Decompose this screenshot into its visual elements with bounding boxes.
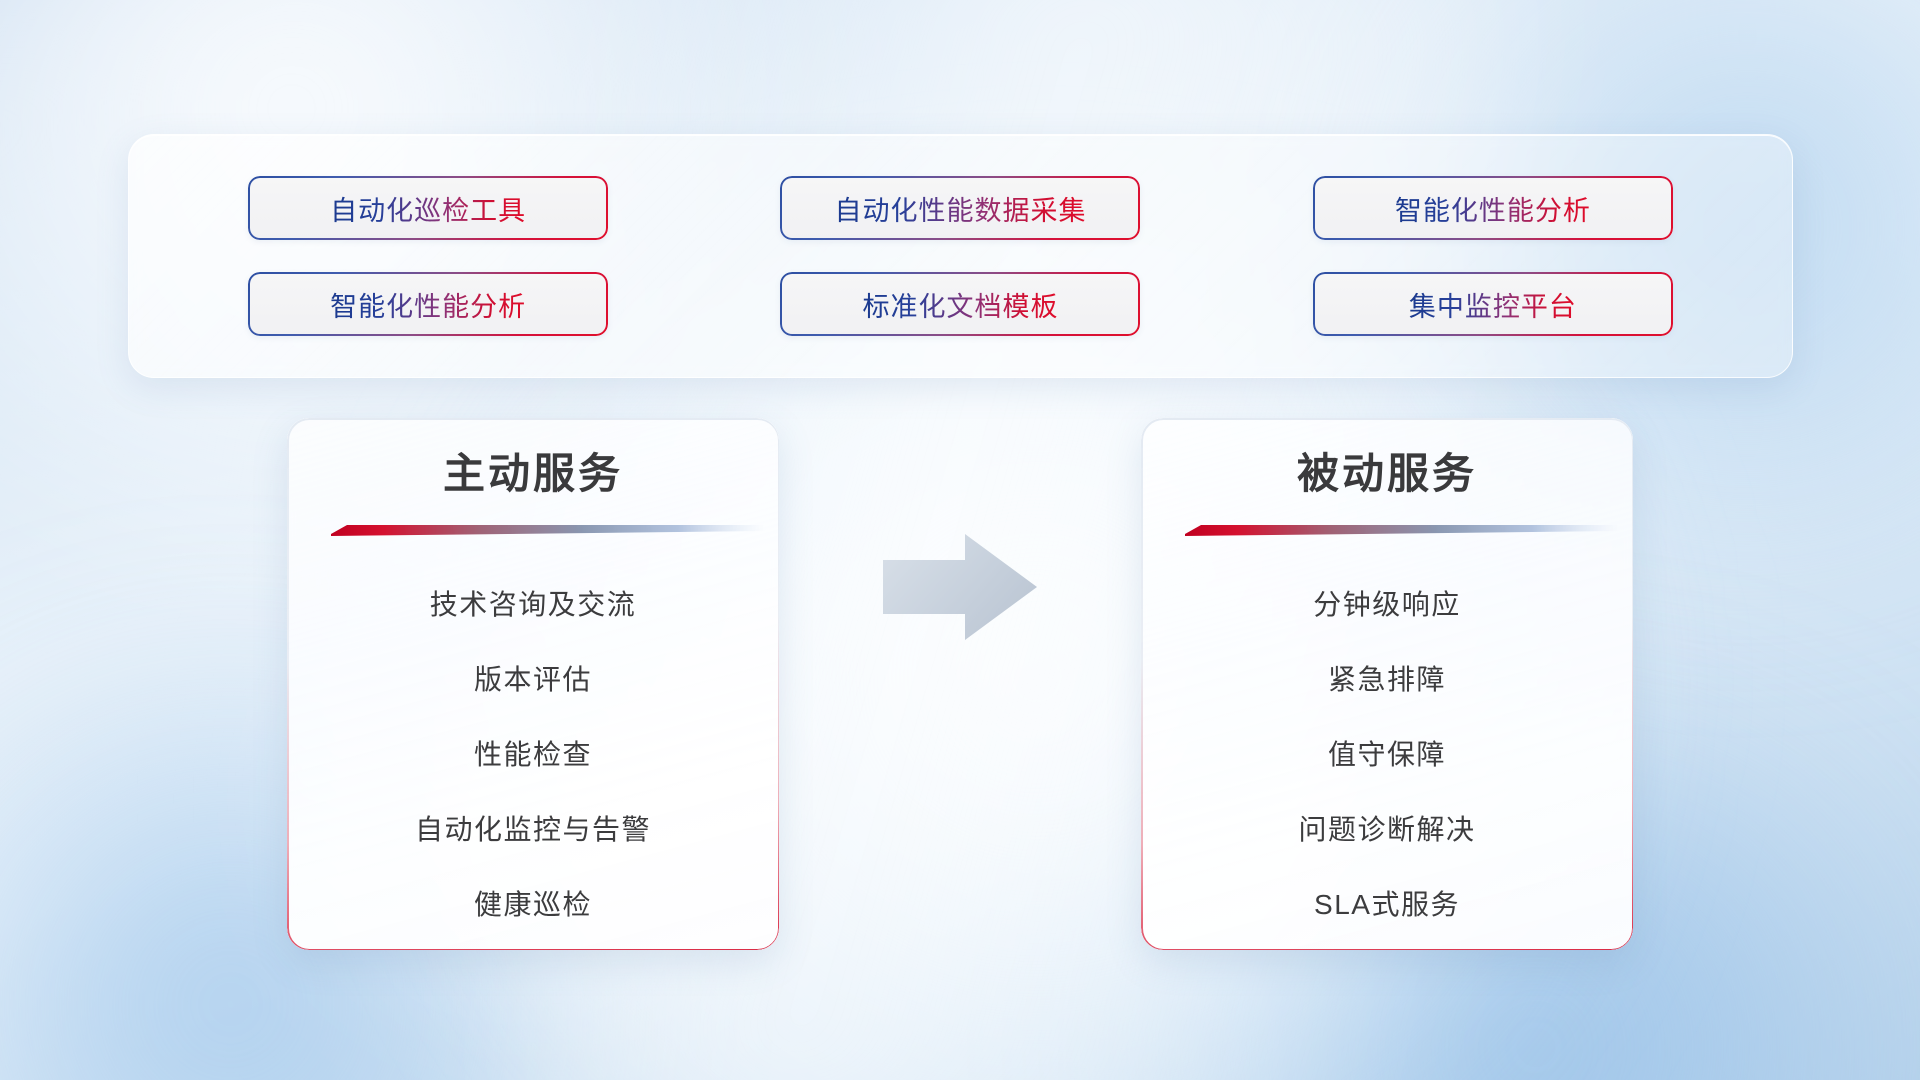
service-list: 分钟级响应 紧急排障 值守保障 问题诊断解决 SLA式服务 xyxy=(1181,577,1593,933)
capabilities-panel: 自动化巡检工具 自动化性能数据采集 智能化性能分析 智能化性能分析 标准化文档模… xyxy=(128,134,1793,378)
capability-pill-label: 智能化性能分析 xyxy=(1395,189,1591,228)
title-divider-wrap xyxy=(327,523,739,539)
service-list-item: 技术咨询及交流 xyxy=(430,577,637,633)
service-card-title: 被动服务 xyxy=(1297,448,1477,501)
service-list-item: 性能检查 xyxy=(474,727,592,783)
capability-pill-label: 自动化性能数据采集 xyxy=(834,189,1086,228)
title-divider-wrap xyxy=(1181,523,1593,539)
capability-pill[interactable]: 集中监控平台 xyxy=(1313,272,1673,336)
capability-pill[interactable]: 智能化性能分析 xyxy=(248,272,608,336)
capability-pill[interactable]: 自动化性能数据采集 xyxy=(780,176,1140,240)
capability-pill[interactable]: 智能化性能分析 xyxy=(1313,176,1673,240)
service-list-item: 值守保障 xyxy=(1328,727,1446,783)
service-list-item: 分钟级响应 xyxy=(1313,577,1461,633)
service-comparison-section: 主动服务 xyxy=(0,418,1920,998)
capability-pill-label: 智能化性能分析 xyxy=(330,285,526,324)
capability-pill-label: 集中监控平台 xyxy=(1409,285,1577,324)
service-list-item: 紧急排障 xyxy=(1328,652,1446,708)
service-card-active: 主动服务 xyxy=(287,418,779,950)
service-list-item: 问题诊断解决 xyxy=(1298,802,1475,858)
capability-pill-label: 标准化文档模板 xyxy=(862,285,1058,324)
capability-pill-label: 自动化巡检工具 xyxy=(330,189,526,228)
service-list-item: 健康巡检 xyxy=(474,877,592,933)
gradient-divider xyxy=(1185,523,1619,537)
capability-pill[interactable]: 自动化巡检工具 xyxy=(248,176,608,240)
capabilities-grid: 自动化巡检工具 自动化性能数据采集 智能化性能分析 智能化性能分析 标准化文档模… xyxy=(201,176,1720,336)
capability-pill[interactable]: 标准化文档模板 xyxy=(780,272,1140,336)
service-list: 技术咨询及交流 版本评估 性能检查 自动化监控与告警 健康巡检 xyxy=(327,577,739,933)
service-list-item: 版本评估 xyxy=(474,652,592,708)
service-card-title: 主动服务 xyxy=(443,448,623,501)
service-list-item: SLA式服务 xyxy=(1314,877,1460,933)
gradient-divider xyxy=(331,523,765,537)
service-card-passive: 被动服务 xyxy=(1141,418,1633,950)
right-arrow-icon xyxy=(879,528,1041,646)
service-list-item: 自动化监控与告警 xyxy=(415,802,651,858)
